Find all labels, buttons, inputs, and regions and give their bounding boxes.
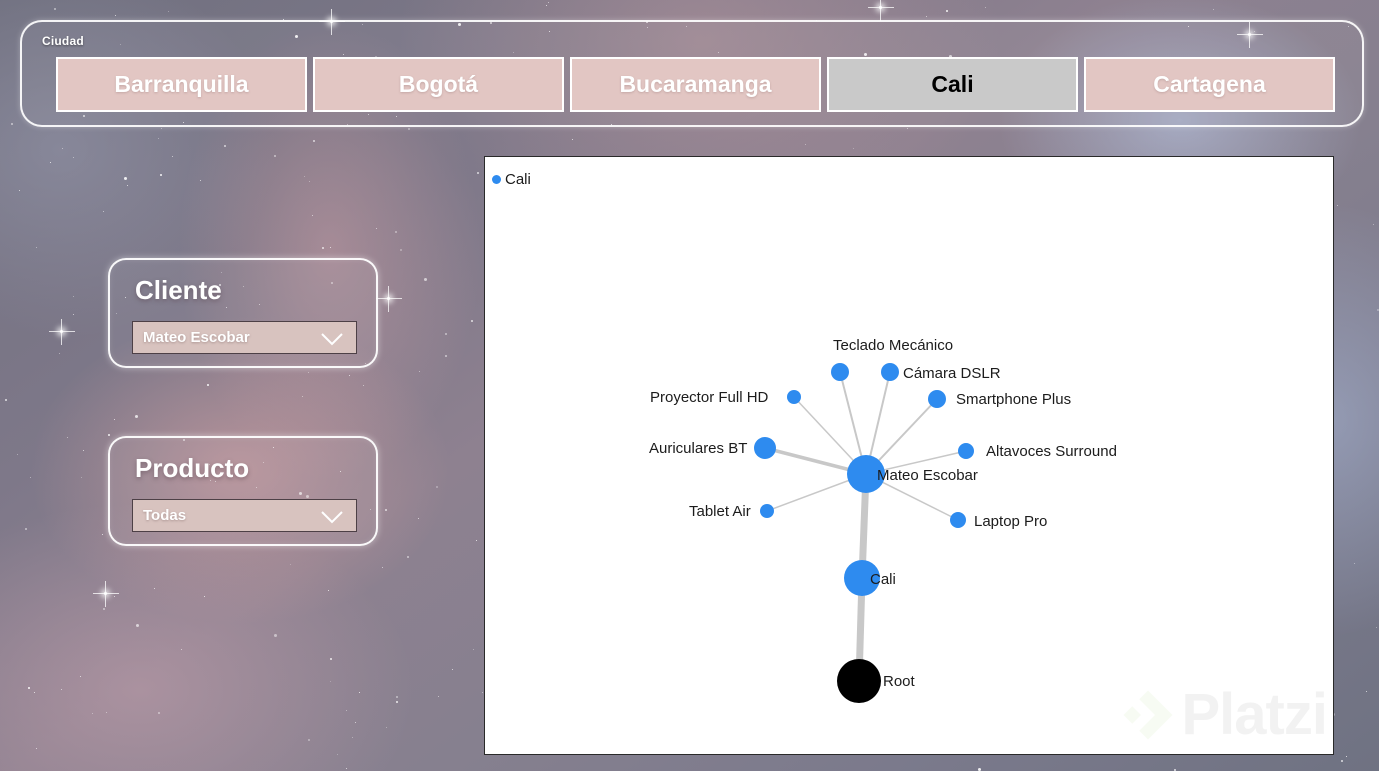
graph-node[interactable] [928,390,946,408]
graph-node-label: Proyector Full HD [650,389,769,406]
graph-node[interactable] [950,512,966,528]
city-filter-panel: Ciudad BarranquillaBogotáBucaramangaCali… [20,20,1364,127]
dashboard-root: Ciudad BarranquillaBogotáBucaramangaCali… [0,0,1379,771]
graph-node[interactable] [760,504,774,518]
city-button-bucaramanga[interactable]: Bucaramanga [570,57,821,112]
star-glint [104,592,107,595]
graph-node-label: Laptop Pro [974,513,1047,530]
producto-dropdown[interactable]: Todas [132,499,357,532]
city-button-cali[interactable]: Cali [827,57,1078,112]
city-filter-label: Ciudad [42,34,84,48]
network-graph-panel: Cali RootCaliMateo EscobarTeclado Mecáni… [484,156,1334,755]
star-glint [879,6,882,9]
cliente-filter-title: Cliente [135,275,222,306]
graph-node-label: Altavoces Surround [986,443,1117,460]
graph-node-label: Cámara DSLR [903,365,1001,382]
city-button-cartagena[interactable]: Cartagena [1084,57,1335,112]
cliente-dropdown[interactable]: Mateo Escobar [132,321,357,354]
cliente-dropdown-value: Mateo Escobar [143,329,250,346]
network-graph-svg[interactable]: RootCaliMateo EscobarTeclado MecánicoCám… [485,157,1334,755]
graph-node[interactable] [787,390,801,404]
graph-node-label: Tablet Air [689,503,751,520]
city-button-group: BarranquillaBogotáBucaramangaCaliCartage… [56,57,1335,112]
city-button-bogot[interactable]: Bogotá [313,57,564,112]
graph-node[interactable] [837,659,881,703]
producto-filter-title: Producto [135,453,249,484]
chevron-down-icon [321,333,343,351]
graph-node-label: Root [883,673,916,690]
star-glint [387,297,390,300]
graph-node-label: Cali [870,571,896,588]
city-button-barranquilla[interactable]: Barranquilla [56,57,307,112]
cliente-filter-card: Cliente Mateo Escobar [108,258,378,368]
star-glint [60,330,63,333]
graph-node-label: Smartphone Plus [956,391,1071,408]
producto-dropdown-value: Todas [143,507,186,524]
graph-node[interactable] [754,437,776,459]
graph-node-label: Teclado Mecánico [833,337,953,354]
graph-node-label: Mateo Escobar [877,467,978,484]
graph-node[interactable] [958,443,974,459]
chevron-down-icon [321,511,343,529]
graph-node[interactable] [831,363,849,381]
graph-node-label: Auriculares BT [649,440,747,457]
graph-node[interactable] [881,363,899,381]
producto-filter-card: Producto Todas [108,436,378,546]
